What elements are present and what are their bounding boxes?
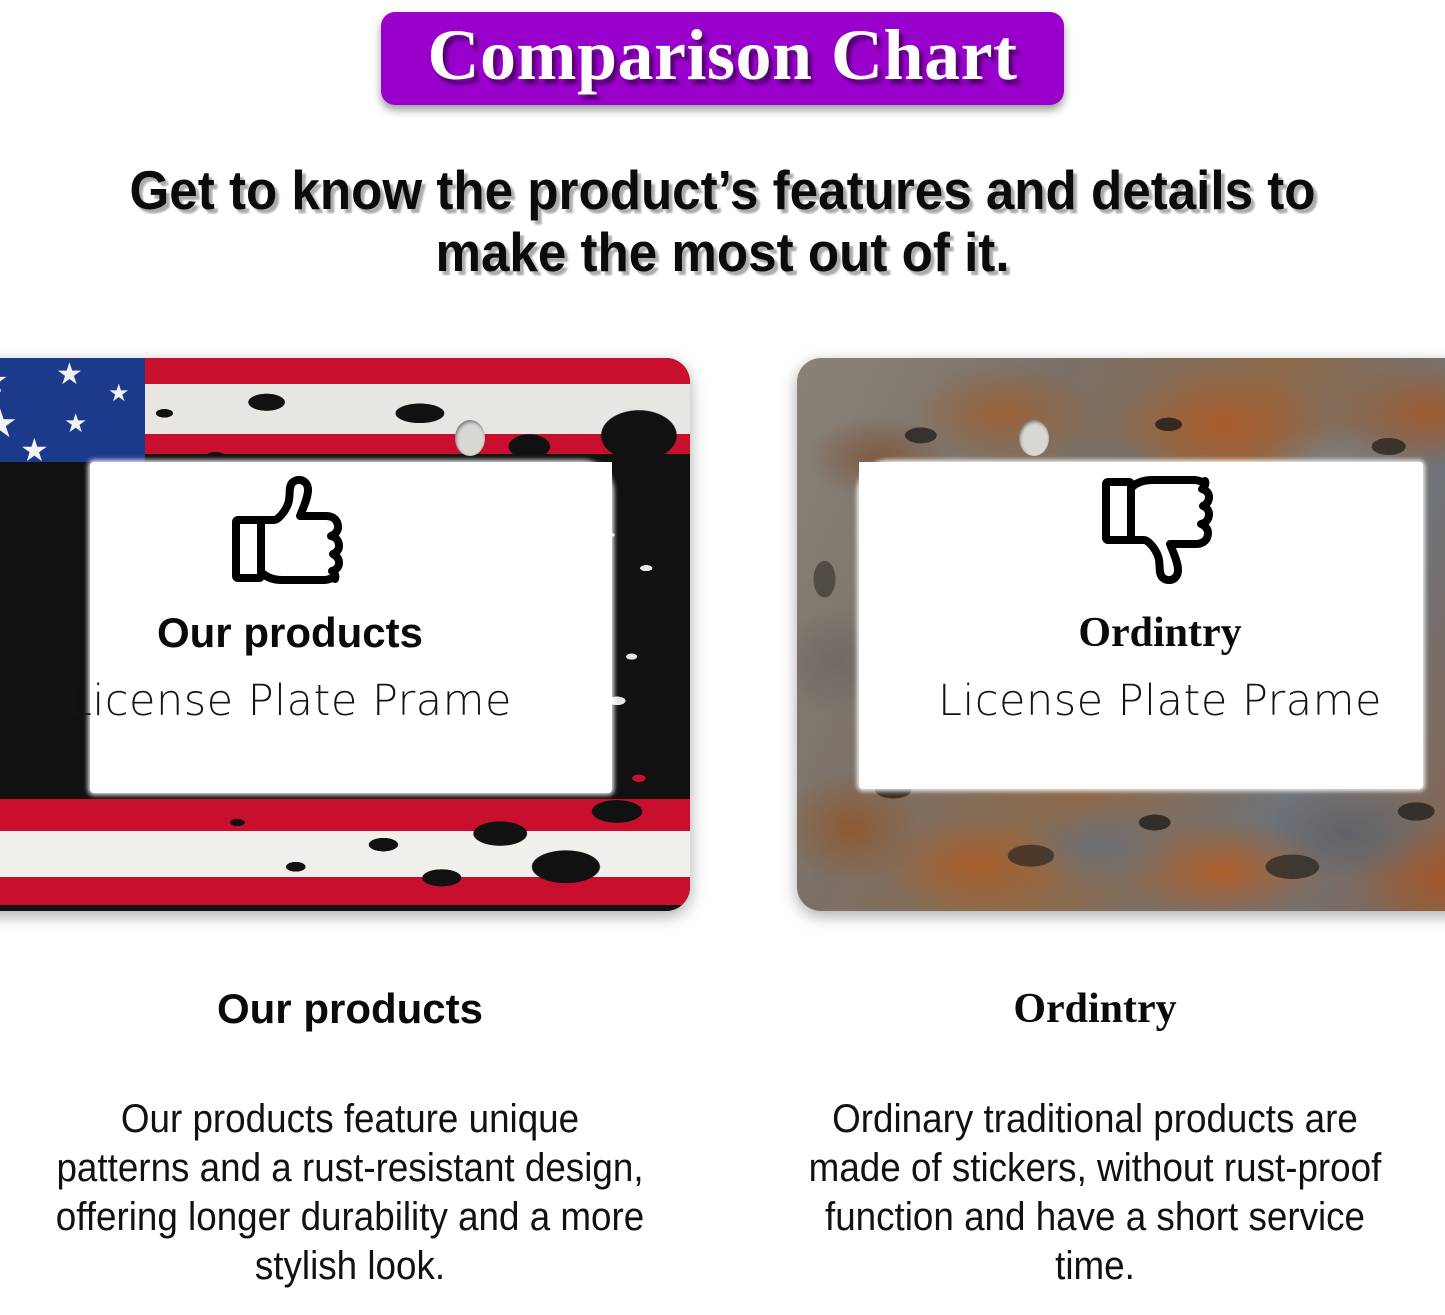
- page-title: Comparison Chart: [427, 18, 1017, 93]
- title-banner-container: Comparison Chart: [0, 12, 1445, 105]
- ordinary-product-name: Ordintry: [910, 610, 1410, 656]
- our-product-subtitle: License Plate Prame: [10, 678, 570, 725]
- our-product-name: Our products: [10, 610, 570, 656]
- mounting-hole-icon: [1019, 420, 1049, 456]
- thumbs-up-icon: [230, 476, 350, 584]
- ordinary-product-description-body: Ordinary traditional products are made o…: [773, 1095, 1417, 1290]
- thumbs-down-icon: [1100, 476, 1220, 584]
- description-row: Our products Our products feature unique…: [0, 985, 1445, 1315]
- title-banner: Comparison Chart: [381, 12, 1063, 105]
- comparison-panels: ★ ★ ★ ★ ★ ★ Our products License Plate P…: [0, 358, 1445, 918]
- subtitle-text: Get to know the product’s features and d…: [97, 160, 1348, 283]
- our-product-description-body: Our products feature unique patterns and…: [28, 1095, 672, 1290]
- ordinary-product-description-column: Ordintry Ordinary traditional products a…: [745, 985, 1445, 1290]
- ordinary-product-subtitle: License Plate Prame: [910, 678, 1410, 725]
- our-product-description-heading: Our products: [0, 985, 700, 1033]
- ordinary-product-panel-content: Ordintry License Plate Prame: [910, 476, 1410, 725]
- mounting-hole-icon: [455, 420, 485, 456]
- our-product-description-column: Our products Our products feature unique…: [0, 985, 700, 1290]
- our-product-panel-content: Our products License Plate Prame: [10, 476, 570, 725]
- ordinary-product-description-heading: Ordintry: [745, 985, 1445, 1033]
